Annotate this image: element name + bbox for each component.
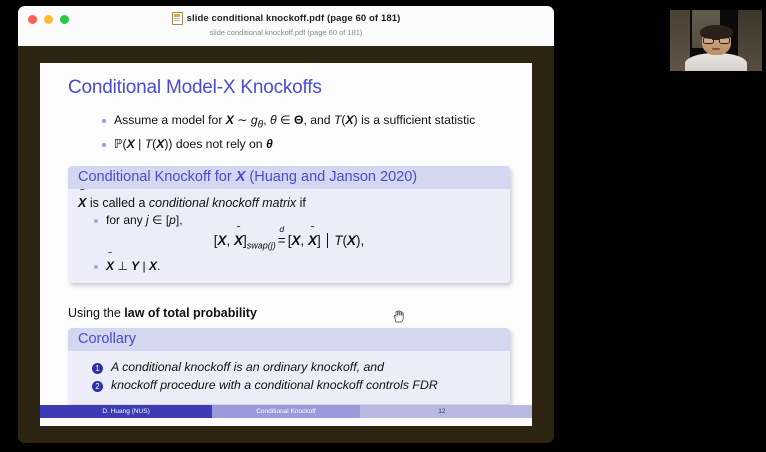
footer-author: D. Huang (NUS)	[40, 405, 212, 418]
numbered-badge-1: 1	[92, 363, 103, 374]
slide-bullet-list: Assume a model for X ∼ gθ, θ ∈ Θ, and T(…	[102, 113, 522, 157]
slide-title: Conditional Model-X Knockoffs	[68, 77, 322, 99]
webcam-glasses-bridge	[712, 39, 718, 40]
formula-relation: d=	[276, 233, 288, 248]
theorem-block: Conditional Knockoff for X (Huang and Ja…	[68, 166, 510, 283]
theorem-formula: [X, X˜]swap(j)d=[X, X˜]T(X),	[78, 233, 500, 251]
corollary-heading: Corollary	[68, 328, 510, 351]
presentation-frame: Conditional Model-X Knockoffs Assume a m…	[18, 46, 554, 443]
webcam-glasses-right-lens	[719, 37, 730, 44]
bullet-item: ℙ(X | T(X)) does not rely on θ	[102, 137, 522, 152]
footer-section: Conditional Knockoff	[212, 405, 360, 418]
bullet-text: Assume a model for X ∼ gθ, θ ∈ Θ, and T(…	[114, 113, 475, 132]
formula-conditional-bar	[327, 233, 329, 248]
window-subtitle-text: slide conditional knockoff.pdf (page 60 …	[18, 28, 554, 37]
bullet-dot-icon	[102, 119, 106, 123]
corollary-item: 2 knockoff procedure with a conditional …	[92, 378, 500, 392]
bullet-dot-icon	[102, 143, 106, 147]
theorem-bullet-text: for any j ∈ [p],	[106, 213, 183, 227]
theorem-bullet-text: X˜ ⊥ Y | X.	[106, 259, 160, 273]
webcam-person-shirt	[685, 53, 748, 71]
corollary-block: Corollary 1 A conditional knockoff is an…	[68, 328, 510, 404]
window-titlebar[interactable]: slide conditional knockoff.pdf (page 60 …	[18, 6, 554, 47]
corollary-item-text: knockoff procedure with a conditional kn…	[111, 378, 438, 392]
bullet-dot-icon	[94, 219, 98, 223]
formula-lhs: [X, X˜]swap(j)	[214, 233, 276, 248]
transition-bold: law of total probability	[124, 306, 257, 320]
pdf-document-icon	[172, 12, 183, 25]
presenter-webcam-video[interactable]	[670, 10, 762, 71]
transition-text: Using the law of total probability	[68, 306, 257, 320]
corollary-item: 1 A conditional knockoff is an ordinary …	[92, 360, 500, 374]
window-title-text: slide conditional knockoff.pdf (page 60 …	[187, 13, 401, 24]
transition-prefix: Using the	[68, 306, 124, 320]
theorem-heading: Conditional Knockoff for X (Huang and Ja…	[68, 166, 510, 189]
slide-footer: D. Huang (NUS) Conditional Knockoff 12	[40, 405, 532, 418]
corollary-item-text: A conditional knockoff is an ordinary kn…	[111, 360, 384, 374]
numbered-badge-2: 2	[92, 381, 103, 392]
window-title-row: slide conditional knockoff.pdf (page 60 …	[18, 12, 554, 25]
theorem-body: X˜ is called a conditional knockoff matr…	[68, 189, 510, 283]
bullet-text: ℙ(X | T(X)) does not rely on θ	[114, 137, 273, 152]
footer-page-number: 12	[360, 405, 532, 418]
theorem-bullet-item: X˜ ⊥ Y | X.	[94, 259, 500, 273]
bullet-item: Assume a model for X ∼ gθ, θ ∈ Θ, and T(…	[102, 113, 522, 132]
theorem-bullet-item: for any j ∈ [p],	[94, 213, 500, 227]
shared-screen-window: slide conditional knockoff.pdf (page 60 …	[18, 6, 554, 443]
corollary-body: 1 A conditional knockoff is an ordinary …	[68, 351, 510, 404]
formula-rhs: [X, X˜]	[288, 233, 321, 248]
bullet-dot-icon	[94, 265, 98, 269]
formula-condition: T(X),	[334, 233, 364, 248]
pointing-hand-cursor	[392, 310, 404, 323]
theorem-intro-line: X˜ is called a conditional knockoff matr…	[78, 196, 500, 210]
slide-canvas: Conditional Model-X Knockoffs Assume a m…	[40, 63, 532, 426]
